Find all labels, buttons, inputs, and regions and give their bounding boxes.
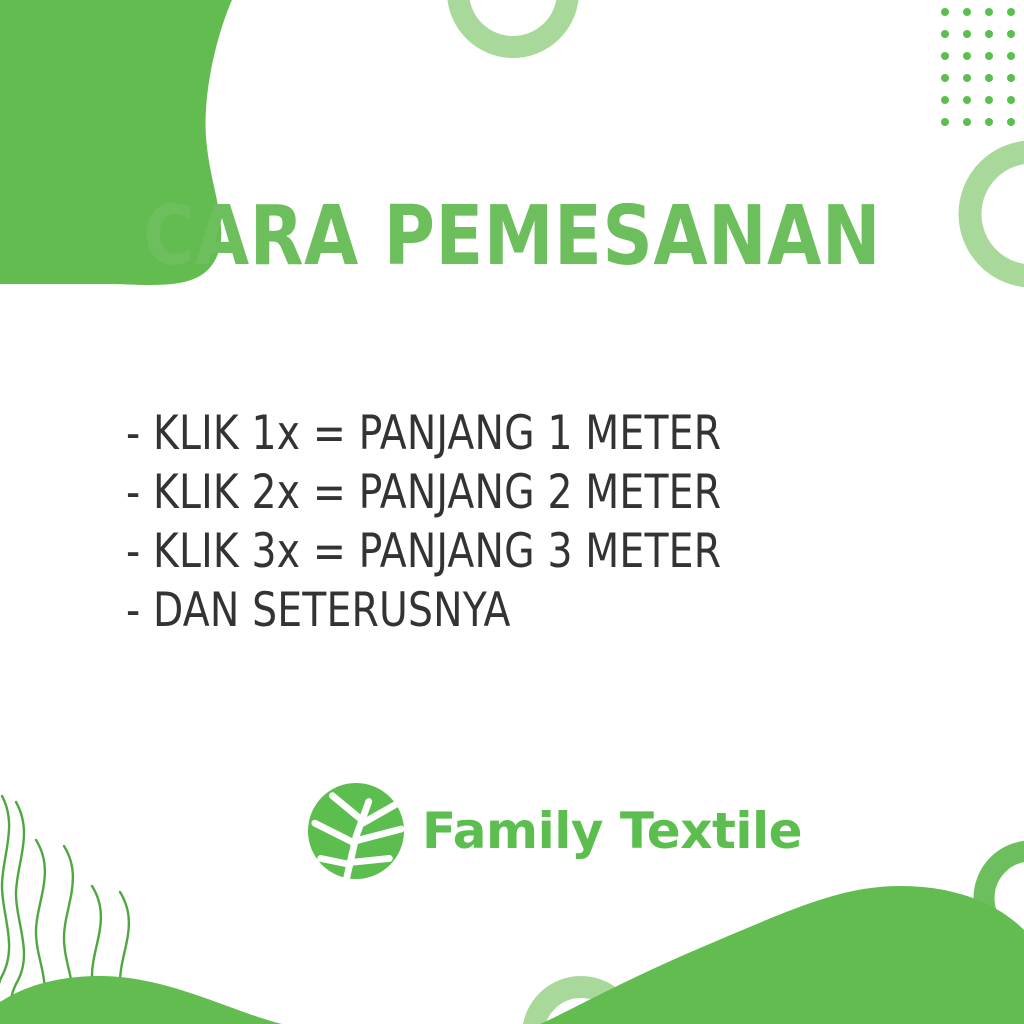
brand-logo: Family Textile [307, 782, 802, 880]
family-textile-leaf-circle-icon [307, 782, 405, 880]
list-item: - KLIK 2x = PANJANG 2 METER [126, 463, 889, 522]
brand-wordmark: Family Textile [422, 806, 802, 856]
poster-root: CARA PEMESANAN - KLIK 1x = PANJANG 1 MET… [0, 0, 1024, 1024]
content-layer: CARA PEMESANAN - KLIK 1x = PANJANG 1 MET… [0, 0, 1024, 1024]
list-item: - KLIK 3x = PANJANG 3 METER [126, 522, 889, 581]
ordering-steps-list: - KLIK 1x = PANJANG 1 METER - KLIK 2x = … [126, 404, 946, 640]
list-item: - KLIK 1x = PANJANG 1 METER [126, 404, 889, 463]
page-title: CARA PEMESANAN [26, 196, 999, 278]
list-item: - DAN SETERUSNYA [126, 581, 889, 640]
